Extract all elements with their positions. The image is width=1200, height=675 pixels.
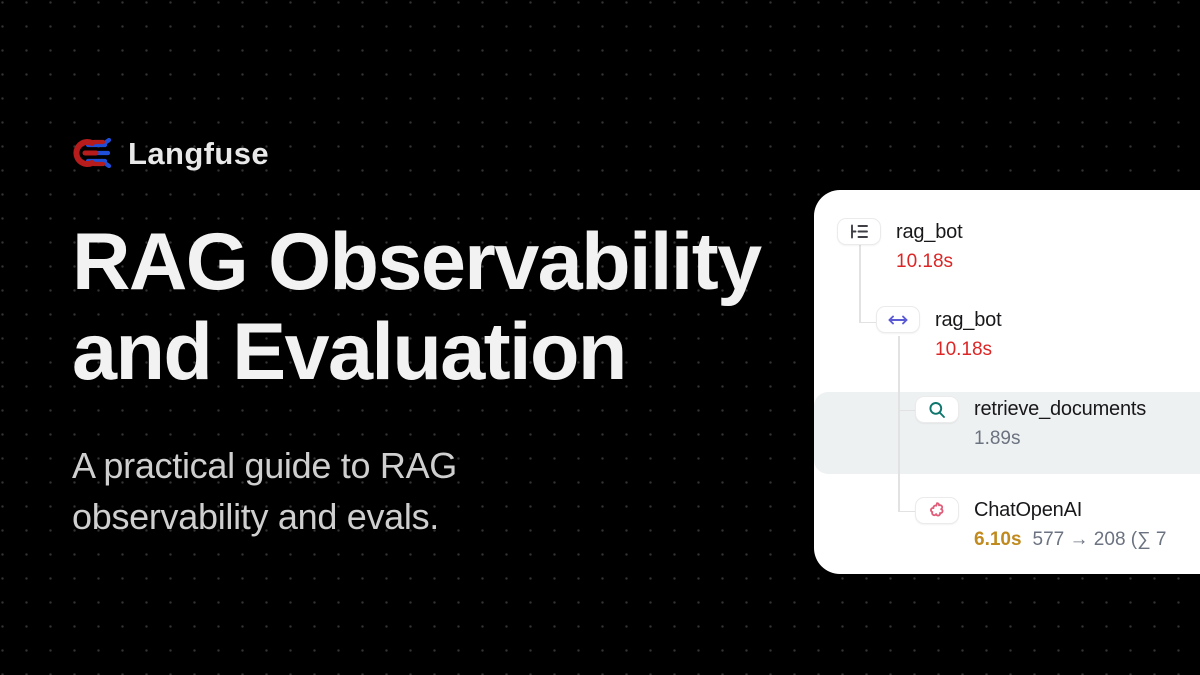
trace-node-0-meta: 10.18s: [896, 251, 962, 274]
headline-line-2: and Evaluation: [72, 308, 802, 398]
headline-line-1: RAG Observability: [72, 218, 802, 308]
generation-star-icon[interactable]: [915, 497, 959, 524]
tree-connector-vertical-2: [898, 336, 900, 512]
tree-connector-vertical-1: [859, 245, 861, 323]
subheadline-line-2: observability and evals.: [72, 491, 802, 542]
trace-node-0[interactable]: rag_bot 10.18s: [896, 220, 962, 274]
trace-node-2-duration: 1.89s: [974, 428, 1020, 451]
trace-node-1-duration: 10.18s: [935, 339, 992, 362]
trace-node-2-meta: 1.89s: [974, 428, 1146, 451]
hero-canvas: Langfuse RAG Observability and Evaluatio…: [0, 0, 1200, 675]
trace-node-3[interactable]: ChatOpenAI 6.10s 577 → 208 (∑ 7: [974, 498, 1167, 552]
page-title: RAG Observability and Evaluation: [72, 218, 802, 398]
trace-node-1-meta: 10.18s: [935, 339, 1001, 362]
trace-node-0-duration: 10.18s: [896, 251, 953, 274]
brand-name: Langfuse: [128, 138, 269, 169]
span-arrows-icon[interactable]: [876, 306, 920, 333]
trace-tree-panel: rag_bot 10.18s rag_bot 10.18s: [814, 190, 1200, 574]
brand-lockup: Langfuse: [72, 132, 802, 174]
trace-list-icon[interactable]: [837, 218, 881, 245]
trace-node-2-name: retrieve_documents: [974, 397, 1146, 421]
trace-node-3-name: ChatOpenAI: [974, 498, 1167, 522]
trace-node-3-meta: 6.10s 577 → 208 (∑ 7: [974, 529, 1167, 552]
langfuse-logo-icon: [72, 138, 114, 168]
trace-node-0-name: rag_bot: [896, 220, 962, 244]
trace-node-2[interactable]: retrieve_documents 1.89s: [974, 397, 1146, 451]
page-subtitle: A practical guide to RAG observability a…: [72, 440, 802, 542]
trace-node-1-name: rag_bot: [935, 308, 1001, 332]
hero-text-column: Langfuse RAG Observability and Evaluatio…: [72, 132, 802, 542]
trace-node-3-tokens: 577 → 208 (∑ 7: [1033, 529, 1167, 552]
subheadline-line-1: A practical guide to RAG: [72, 440, 802, 491]
trace-tree: rag_bot 10.18s rag_bot 10.18s: [814, 190, 1200, 574]
trace-node-3-duration: 6.10s: [974, 529, 1022, 552]
search-icon[interactable]: [915, 396, 959, 423]
trace-node-1[interactable]: rag_bot 10.18s: [935, 308, 1001, 362]
